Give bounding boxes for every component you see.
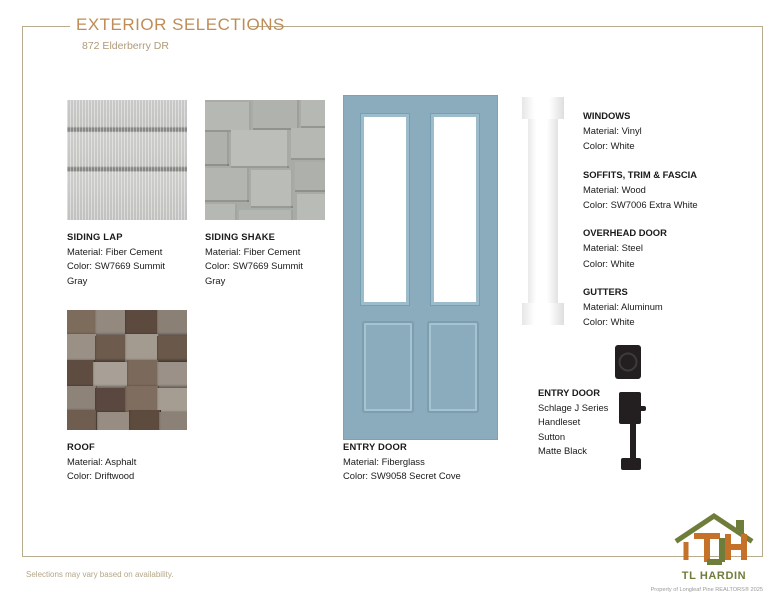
column-cap-top	[522, 97, 564, 119]
house-monogram-icon	[664, 512, 764, 570]
entry-door-title: ENTRY DOOR	[343, 440, 461, 455]
door-panel-left	[364, 323, 412, 411]
door-panel-right	[429, 323, 477, 411]
door-lite-left	[364, 117, 406, 302]
spec-gutters: GUTTERS Material: Aluminum Color: White	[583, 284, 708, 330]
spec-windows-title: WINDOWS	[583, 108, 708, 123]
frame-left-line	[22, 26, 23, 556]
spec-soffits-color: Color: SW7006 Extra White	[583, 197, 708, 212]
spec-gutters-color: Color: White	[583, 314, 708, 329]
availability-note: Selections may vary based on availabilit…	[26, 570, 173, 579]
spec-soffits-title: SOFFITS, TRIM & FASCIA	[583, 167, 708, 182]
frame-bottom-line	[22, 556, 763, 557]
logo-name: TL HARDIN	[664, 570, 764, 582]
spec-windows-material: Material: Vinyl	[583, 123, 708, 138]
roof-title: ROOF	[67, 440, 197, 455]
spec-overhead-door-color: Color: White	[583, 256, 708, 271]
roof-color: Color: Driftwood	[67, 469, 197, 484]
spec-windows-color: Color: White	[583, 138, 708, 153]
siding-shake-caption: SIDING SHAKE Material: Fiber Cement Colo…	[205, 230, 320, 288]
hardware-caption: ENTRY DOOR Schlage J Series Handleset Su…	[538, 386, 628, 459]
spec-windows: WINDOWS Material: Vinyl Color: White	[583, 108, 708, 154]
hardware-line-1: Schlage J Series	[538, 401, 628, 416]
spec-overhead-door-material: Material: Steel	[583, 240, 708, 255]
siding-shake-title: SIDING SHAKE	[205, 230, 320, 245]
deadbolt-knob	[619, 353, 638, 372]
column-shaft	[528, 97, 558, 325]
roof-caption: ROOF Material: Asphalt Color: Driftwood	[67, 440, 197, 484]
siding-lap-caption: SIDING LAP Material: Fiber Cement Color:…	[67, 230, 182, 288]
handleset-lever	[632, 406, 646, 411]
spec-overhead-door-title: OVERHEAD DOOR	[583, 225, 708, 240]
entry-door-color: Color: SW9058 Secret Cove	[343, 469, 461, 484]
spec-list: WINDOWS Material: Vinyl Color: White SOF…	[583, 108, 708, 342]
spec-overhead-door: OVERHEAD DOOR Material: Steel Color: Whi…	[583, 225, 708, 271]
roof-material: Material: Asphalt	[67, 455, 197, 470]
entry-door-material: Material: Fiberglass	[343, 455, 461, 470]
siding-shake-material: Material: Fiber Cement	[205, 245, 320, 260]
handleset-foot	[621, 458, 641, 470]
column-cap-bottom	[522, 303, 564, 325]
hardware-line-2: Handleset	[538, 415, 628, 430]
selection-sheet: EXTERIOR SELECTIONS 872 Elderberry DR	[0, 0, 777, 600]
entry-door-caption: ENTRY DOOR Material: Fiberglass Color: S…	[343, 440, 461, 484]
siding-lap-swatch	[67, 100, 187, 220]
frame-right-line	[762, 26, 763, 556]
entry-door-image	[343, 95, 498, 440]
hardware-title: ENTRY DOOR	[538, 386, 628, 401]
frame-top-left-line	[22, 26, 70, 27]
siding-lap-title: SIDING LAP	[67, 230, 182, 245]
spec-gutters-material: Material: Aluminum	[583, 299, 708, 314]
page-title: EXTERIOR SELECTIONS	[76, 15, 285, 35]
trim-column-image	[522, 97, 564, 325]
frame-top-right-line	[250, 26, 763, 27]
door-lite-right	[434, 117, 476, 302]
hardware-line-4: Matte Black	[538, 444, 628, 459]
spec-gutters-title: GUTTERS	[583, 284, 708, 299]
siding-shake-color: Color: SW7669 Summit Gray	[205, 259, 320, 288]
siding-lap-material: Material: Fiber Cement	[67, 245, 182, 260]
page-address: 872 Elderberry DR	[82, 40, 169, 52]
deadbolt-image	[615, 345, 641, 379]
spec-soffits-material: Material: Wood	[583, 182, 708, 197]
handleset-grip	[630, 416, 636, 460]
tl-hardin-logo: TL HARDIN	[664, 512, 764, 582]
siding-shake-swatch	[205, 100, 325, 220]
siding-lap-color: Color: SW7669 Summit Gray	[67, 259, 182, 288]
roof-shingle-swatch	[67, 310, 187, 430]
spec-soffits: SOFFITS, TRIM & FASCIA Material: Wood Co…	[583, 167, 708, 213]
copyright-notice: Property of Longleaf Pine REALTORS® 2025	[651, 587, 763, 593]
hardware-line-3: Sutton	[538, 430, 628, 445]
